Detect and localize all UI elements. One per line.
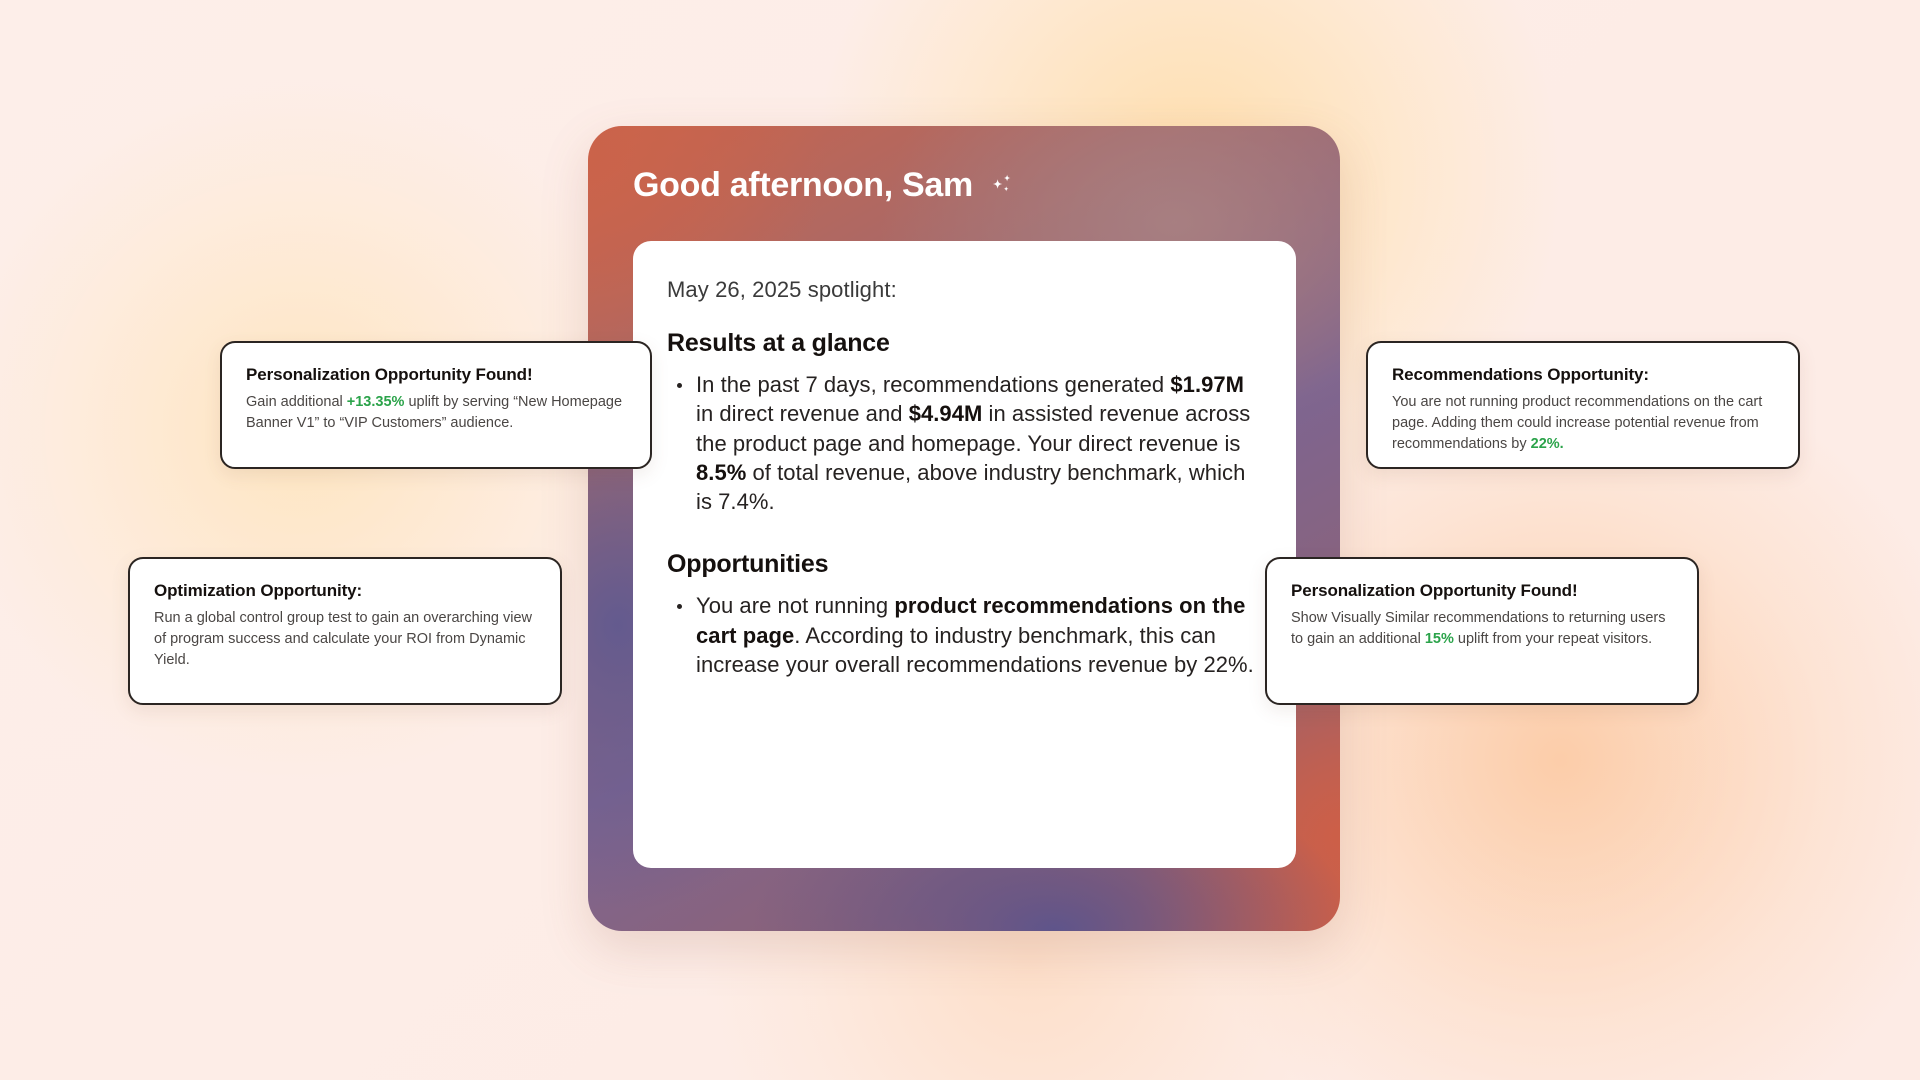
- spotlight-date: May 26, 2025 spotlight:: [667, 277, 1262, 303]
- sparkle-icon: [989, 172, 1017, 200]
- callout-title: Personalization Opportunity Found!: [1291, 581, 1673, 601]
- callout-card-recommendations[interactable]: Recommendations Opportunity: You are not…: [1366, 341, 1800, 469]
- callout-card-optimization[interactable]: Optimization Opportunity: Run a global c…: [128, 557, 562, 705]
- callout-body: You are not running product recommendati…: [1392, 392, 1774, 455]
- opportunities-bullet-list: You are not running product recommendati…: [667, 591, 1262, 679]
- page-title: Good afternoon, Sam: [633, 166, 973, 205]
- callout-title: Personalization Opportunity Found!: [246, 365, 626, 385]
- results-bullet-list: In the past 7 days, recommendations gene…: [667, 370, 1262, 516]
- spotlight-panel: May 26, 2025 spotlight: Results at a gla…: [633, 241, 1296, 868]
- opportunities-heading: Opportunities: [667, 550, 1262, 579]
- spotlight-hero-card: Good afternoon, Sam May 26, 2025 spotlig…: [588, 126, 1340, 931]
- page-root: Good afternoon, Sam May 26, 2025 spotlig…: [0, 0, 1920, 1080]
- callout-body: Run a global control group test to gain …: [154, 608, 536, 671]
- list-item: You are not running product recommendati…: [667, 591, 1262, 679]
- callout-body: Show Visually Similar recommendations to…: [1291, 608, 1673, 650]
- hero-header: Good afternoon, Sam: [633, 166, 1017, 205]
- results-heading: Results at a glance: [667, 329, 1262, 358]
- callout-title: Optimization Opportunity:: [154, 581, 536, 601]
- callout-card-personalization-left[interactable]: Personalization Opportunity Found! Gain …: [220, 341, 652, 469]
- callout-body: Gain additional +13.35% uplift by servin…: [246, 392, 626, 434]
- list-item: In the past 7 days, recommendations gene…: [667, 370, 1262, 516]
- callout-title: Recommendations Opportunity:: [1392, 365, 1774, 385]
- callout-card-personalization-right[interactable]: Personalization Opportunity Found! Show …: [1265, 557, 1699, 705]
